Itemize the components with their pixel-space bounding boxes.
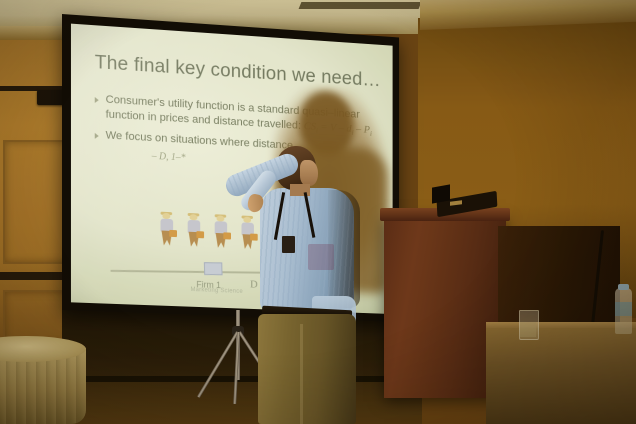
water-bottle-label bbox=[615, 302, 632, 316]
businessman-icon bbox=[185, 214, 203, 248]
conference-room-photo: The final key condition we need… Consume… bbox=[0, 0, 636, 424]
slide-title: The final key condition we need… bbox=[95, 51, 382, 92]
presenter-badge bbox=[282, 236, 295, 253]
water-bottle-cap bbox=[618, 284, 629, 290]
laptop-screen bbox=[432, 184, 450, 203]
presenter-face bbox=[300, 160, 318, 186]
wall-panel-upper bbox=[3, 140, 71, 264]
presenter-shirt-pocket bbox=[308, 244, 334, 270]
businessman-icon bbox=[158, 213, 176, 247]
presenter bbox=[216, 138, 396, 424]
ceiling-vent bbox=[299, 2, 422, 9]
presenter-trouser-crease bbox=[300, 324, 303, 424]
water-glass-fill bbox=[520, 322, 536, 337]
presenter-trousers bbox=[258, 314, 356, 424]
presenter-neck bbox=[290, 184, 310, 196]
draped-head-table bbox=[486, 328, 636, 424]
